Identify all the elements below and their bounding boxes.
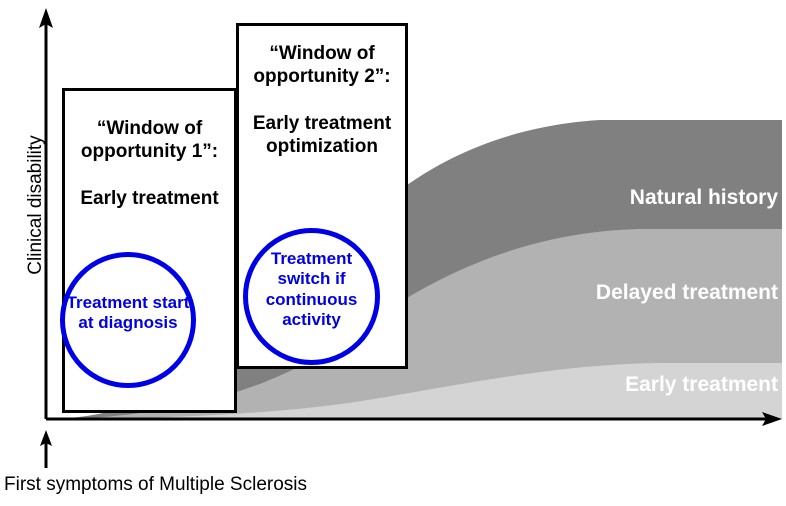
treatment-start-circle: Treatment start at diagnosis [60, 252, 196, 388]
band-label-early-treatment: Early treatment [625, 373, 778, 397]
treatment-switch-label: Treatment switch if continuous activity [248, 249, 375, 331]
window-1-title: “Window of opportunity 1”: [65, 117, 234, 163]
onset-marker-arrow [40, 430, 52, 468]
x-axis-caption: First symptoms of Multiple Sclerosis [4, 474, 307, 496]
treatment-switch-circle: Treatment switch if continuous activity [243, 228, 380, 365]
band-label-natural-history: Natural history [630, 186, 778, 210]
window-2-subtitle: Early treatment optimization [239, 112, 405, 158]
window-2-title: “Window of opportunity 2”: [239, 42, 405, 88]
window-1-subtitle: Early treatment [65, 187, 234, 210]
y-axis-label: Clinical disability [25, 85, 47, 325]
band-label-delayed-treatment: Delayed treatment [596, 281, 778, 305]
treatment-start-label: Treatment start at diagnosis [65, 293, 191, 334]
ms-treatment-windows-figure: Clinical disability First symptoms of Mu… [0, 0, 786, 506]
